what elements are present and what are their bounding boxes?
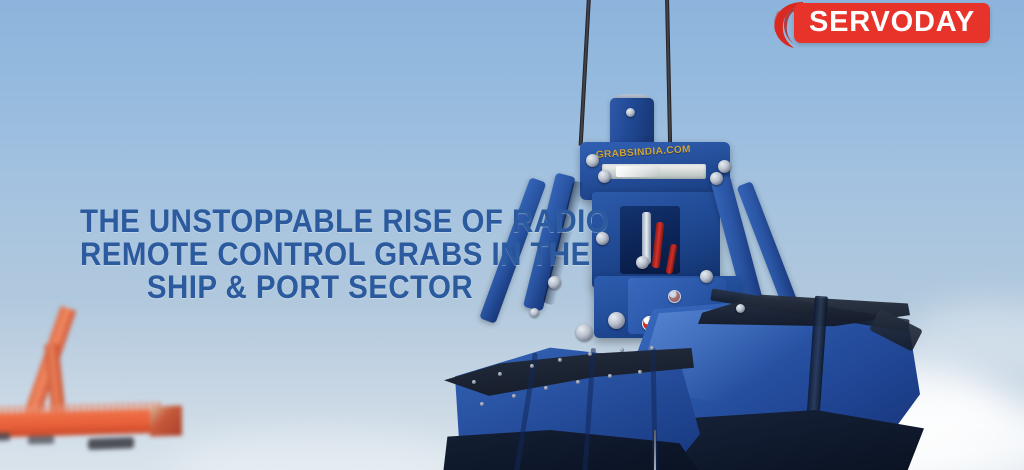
hero-banner: GRABSINDIA.COM xyxy=(0,0,1024,470)
bolt-icon xyxy=(608,312,625,329)
bolt-icon xyxy=(530,308,539,317)
headline-line-3: Ship & Port Sector xyxy=(80,271,540,304)
page-title: The Unstoppable Rise Of Radio Remote Con… xyxy=(80,205,540,304)
rivet xyxy=(558,358,562,362)
crane-detail xyxy=(88,437,134,450)
bolt-icon xyxy=(548,276,561,289)
rivet xyxy=(608,374,612,378)
servoday-logo[interactable]: SERVODAY xyxy=(794,3,990,47)
rivet xyxy=(620,348,624,352)
rivet xyxy=(498,372,502,376)
reflective-plate-glare xyxy=(616,166,660,177)
rivet xyxy=(480,402,484,406)
hanging-cable xyxy=(654,430,656,470)
rivet xyxy=(472,380,476,384)
rivet xyxy=(544,386,548,390)
bolt-icon xyxy=(736,304,745,313)
rivet xyxy=(650,346,654,350)
crane-detail xyxy=(28,436,54,445)
bolt-icon xyxy=(626,108,635,117)
bolt-icon xyxy=(710,172,723,185)
rivet xyxy=(512,394,516,398)
headline-line-2: Remote Control Grabs In The xyxy=(80,238,540,271)
crane-detail xyxy=(0,433,10,442)
bolt-icon xyxy=(576,324,593,341)
rivet xyxy=(530,364,534,368)
bolt-icon xyxy=(598,170,611,183)
headline-line-1: The Unstoppable Rise Of Radio xyxy=(80,205,540,238)
warning-sticker xyxy=(668,290,681,303)
logo-badge: SERVODAY xyxy=(794,3,990,43)
rivet xyxy=(588,352,592,356)
logo-text: SERVODAY xyxy=(809,7,975,38)
bolt-icon xyxy=(700,270,713,283)
bolt-icon xyxy=(636,256,649,269)
crane-boom-tip xyxy=(150,405,182,436)
background-crane xyxy=(0,350,230,470)
rivet xyxy=(638,370,642,374)
bolt-icon xyxy=(586,154,599,167)
bolt-icon xyxy=(718,160,731,173)
rivet xyxy=(576,380,580,384)
